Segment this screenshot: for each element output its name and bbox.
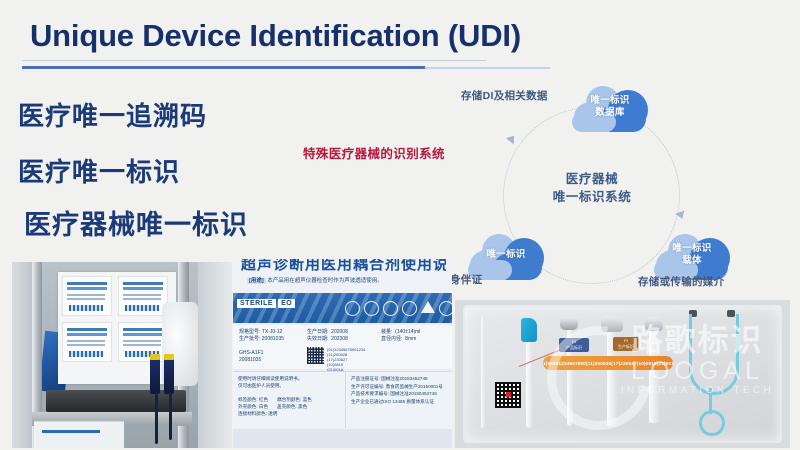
symbol-icon — [402, 301, 417, 316]
heading-unique-id: 医疗唯一标识 — [18, 152, 180, 189]
warning-triangle-icon — [421, 301, 435, 313]
heading-device-unique-id: 医疗器械唯一标识 — [24, 203, 248, 242]
print-head-nozzle — [164, 358, 174, 394]
label-column-volume: 装量: (140±14)ml 直径内径: 8mm — [381, 329, 420, 343]
title-rule-thin — [22, 60, 486, 61]
cloud-database: 唯一标识 数据库 — [568, 82, 652, 132]
probe-instrument — [481, 316, 485, 428]
qr-code — [495, 382, 521, 408]
symbol-icon — [364, 301, 379, 316]
page-title: Unique Device Identification (UDI) — [30, 18, 521, 54]
photo-device-label: 超声诊断用医用耦合剂使用说明 [用途] 本产品用在超声仪器检查时作为声波透适使用… — [233, 259, 452, 448]
label-subline-tag: [用途] — [247, 278, 266, 284]
cloud-carrier: 唯一标识 载体 — [650, 230, 734, 280]
datamatrix-code — [307, 347, 324, 364]
instrument-handle — [526, 342, 532, 428]
symbol-icon — [439, 301, 452, 316]
cloud-identifier-label: 唯一标识 — [464, 249, 548, 261]
photo-labelling-machine — [12, 262, 232, 448]
cycle-arrow-icon — [506, 133, 518, 145]
symbol-icon — [383, 301, 398, 316]
label-subline-text: 本产品用在超声仪器检查时作为声波透适使用。 — [267, 278, 383, 284]
red-annotation: 特殊医疗器械的识别系统 — [303, 143, 445, 162]
printed-label — [62, 276, 112, 316]
sterile-mark: STERILE EO — [237, 299, 295, 308]
label-notes-right: 产品注册证号: 国械注准20183452748 生产许可证编号: 鲁食药监械生产… — [351, 375, 443, 405]
diagram-label-left: 身伴证 — [450, 272, 482, 287]
cloud-database-line1: 唯一标识 — [568, 95, 652, 107]
cloud-carrier-line1: 唯一标识 — [650, 243, 734, 255]
stethoscope — [683, 310, 769, 430]
reflex-hammer-head — [560, 318, 578, 330]
slide-canvas: Unique Device Identification (UDI) 医疗唯一追… — [0, 0, 800, 450]
cycle-arrow-icon — [675, 211, 687, 221]
printed-label — [118, 276, 168, 316]
machine-right-wall — [198, 262, 232, 448]
stethoscope-tubing — [689, 314, 739, 395]
machine-front-tray — [34, 421, 124, 448]
label-notes-left: 使用时请仔细阅读使用说明书。 仅可由医护人员使用。 标签颜色: 红色 耦合剂颜色… — [238, 375, 312, 417]
sterile-method: EO — [278, 299, 295, 308]
print-head-tip — [150, 354, 160, 360]
print-head-tip — [164, 354, 174, 360]
label-column-specs: 规格型号: TX-J0-12 生产批号: 20081035 GHS-A1F1 2… — [239, 329, 284, 364]
datamatrix-text: (01)12345678901234 (11)200828 (17)230827… — [327, 347, 365, 372]
photo-instrument-kit: DI 产品标识 PI 生产标识 (01)06901234567890(11)20… — [455, 300, 790, 448]
label-headline: 超声诊断用医用耦合剂使用说明 — [241, 259, 446, 274]
cloud-database-line2: 数据库 — [568, 107, 652, 119]
center-line-2: 唯一标识系统 — [508, 188, 676, 206]
cloud-carrier-line2: 载体 — [650, 255, 734, 267]
label-subline: [用途] 本产品用在超声仪器检查时作为声波透适使用。 — [247, 276, 383, 284]
cloud-identifier-line1: 唯一标识 — [464, 249, 548, 261]
machine-cable — [169, 392, 172, 440]
label-bottom-strip — [233, 429, 452, 448]
sterile-text: STERILE — [237, 299, 276, 308]
machine-cable — [155, 392, 158, 444]
blue-tip-instrument — [521, 318, 537, 342]
title-rule-light — [425, 67, 550, 69]
cloud-database-label: 唯一标识 数据库 — [568, 95, 652, 119]
label-column-dates: 生产日期: 202008 失效日期: 202308 — [307, 329, 348, 343]
stethoscope-chestpiece — [699, 410, 725, 436]
diagram-label-top: 存储DI及相关数据 — [461, 88, 548, 103]
printed-label — [118, 322, 168, 362]
title-rule-dark — [22, 66, 425, 69]
diagram-center-label: 医疗器械 唯一标识系统 — [508, 170, 676, 206]
cloud-carrier-label: 唯一标识 载体 — [650, 243, 734, 267]
label-symbol-row — [345, 301, 452, 316]
label-divider — [345, 372, 346, 428]
symbol-icon — [345, 301, 360, 316]
print-head-nozzle — [150, 358, 160, 394]
printed-label — [62, 322, 112, 362]
heading-traceability-code: 医疗唯一追溯码 — [18, 96, 207, 133]
diagram-label-right: 存储或传输的媒介 — [638, 274, 724, 289]
udi-system-diagram: 医疗器械 唯一标识系统 唯一标识 数据库 — [450, 82, 800, 302]
center-line-1: 医疗器械 — [508, 170, 676, 188]
